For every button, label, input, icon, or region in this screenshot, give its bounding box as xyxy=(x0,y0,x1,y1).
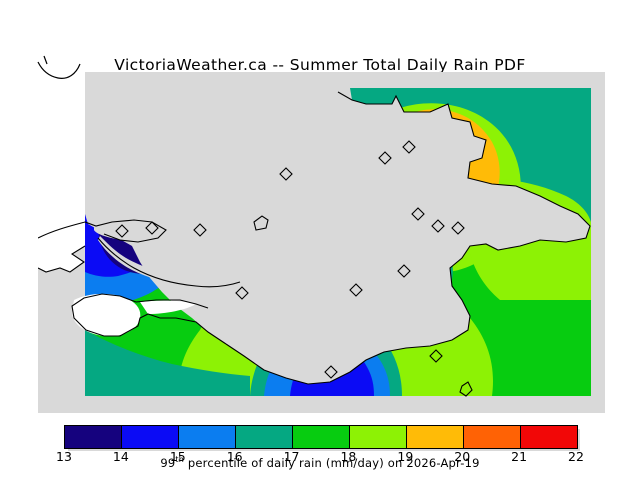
colorbar-band-19-20[interactable] xyxy=(407,426,464,448)
colorbar-band-17-18[interactable] xyxy=(293,426,350,448)
contour-map xyxy=(0,0,640,418)
colorbar-band-21-22[interactable] xyxy=(521,426,577,448)
water-northwest xyxy=(38,72,85,238)
colorbar-band-18-19[interactable] xyxy=(350,426,407,448)
caption-prefix: 99 xyxy=(160,456,175,470)
colorbar-band-20-21[interactable] xyxy=(464,426,521,448)
colorbar-band-14-15[interactable] xyxy=(122,426,179,448)
figure: VictoriaWeather.ca -- Summer Total Daily… xyxy=(0,0,640,480)
colorbar-band-16-17[interactable] xyxy=(236,426,293,448)
colorbar-caption: 99th percentile of daily rain (mm/day) o… xyxy=(0,455,640,470)
caption-suffix: percentile of daily rain (mm/day) on 202… xyxy=(184,456,480,470)
map-area xyxy=(0,0,640,418)
caption-superscript: th xyxy=(175,455,184,464)
colorbar-band-13-14[interactable] xyxy=(65,426,122,448)
colorbar-band-15-16[interactable] xyxy=(179,426,236,448)
colorbar[interactable] xyxy=(64,425,578,449)
colorbar-area: 13141516171819202122 xyxy=(0,418,640,480)
